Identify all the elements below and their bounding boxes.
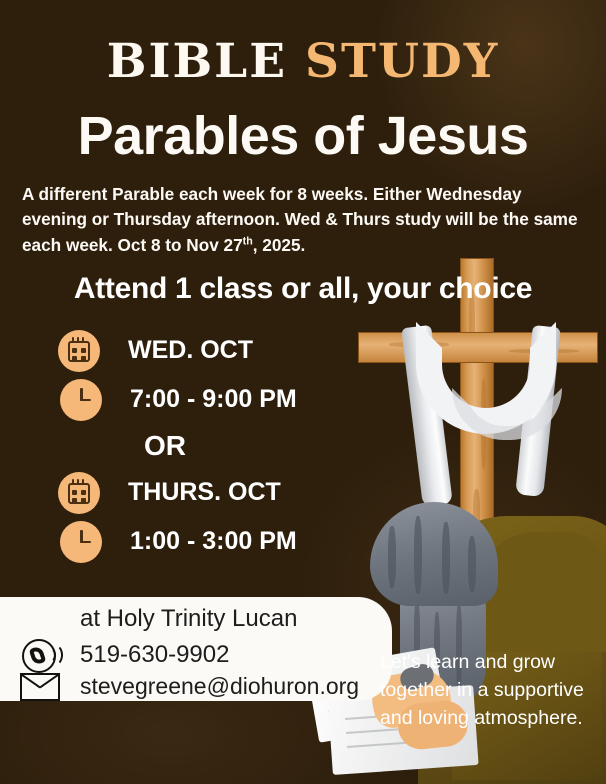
attend-headline: Attend 1 class or all, your choice bbox=[0, 272, 606, 306]
schedule-separator: OR bbox=[0, 424, 330, 468]
schedule-row-thursday-time: 1:00 - 3:00 PM bbox=[0, 517, 380, 566]
envelope-icon bbox=[20, 673, 60, 701]
wednesday-time-label: 7:00 - 9:00 PM bbox=[130, 385, 297, 414]
calendar-icon bbox=[58, 472, 100, 514]
thursday-day-label: THURS. OCT bbox=[128, 478, 281, 507]
contact-banner: at Holy Trinity Lucan 519-630-9902 steve… bbox=[0, 597, 392, 701]
intro-line-3-year: , 2025. bbox=[253, 235, 306, 255]
clock-icon bbox=[60, 521, 102, 563]
bible-study-poster: BIBLESTUDY Parables of Jesus A different… bbox=[0, 0, 606, 784]
intro-line-2: evening or Thursday afternoon. Wed & Thu… bbox=[22, 209, 529, 229]
schedule-row-thursday-date: THURS. OCT bbox=[0, 468, 380, 517]
poster-subtitle: Parables of Jesus bbox=[0, 108, 606, 165]
schedule-row-wednesday-date: WED. OCT bbox=[0, 326, 380, 375]
schedule-list: WED. OCT 7:00 - 9:00 PM OR THURS. OCT bbox=[0, 326, 380, 566]
phone-number[interactable]: 519-630-9902 bbox=[80, 641, 229, 669]
intro-paragraph: A different Parable each week for 8 week… bbox=[22, 182, 588, 258]
schedule-row-wednesday-time: 7:00 - 9:00 PM bbox=[0, 375, 380, 424]
clock-icon bbox=[60, 379, 102, 421]
tagline-text: Let's learn and grow together in a suppo… bbox=[380, 648, 590, 732]
calendar-icon bbox=[58, 330, 100, 372]
wednesday-day-label: WED. OCT bbox=[128, 336, 253, 365]
email-address[interactable]: stevegreene@diohuron.org bbox=[80, 673, 359, 700]
location-label: at Holy Trinity Lucan bbox=[80, 605, 297, 633]
poster-title: BIBLESTUDY bbox=[0, 38, 606, 85]
ordinal-suffix: th bbox=[243, 235, 253, 247]
intro-line-1: A different Parable each week for 8 week… bbox=[22, 184, 522, 204]
background-vignette-top-right bbox=[376, 0, 606, 210]
thursday-time-label: 1:00 - 3:00 PM bbox=[130, 527, 297, 556]
title-word-study: STUDY bbox=[305, 34, 499, 89]
title-word-bible: BIBLE bbox=[107, 34, 287, 89]
phone-icon bbox=[22, 639, 56, 673]
